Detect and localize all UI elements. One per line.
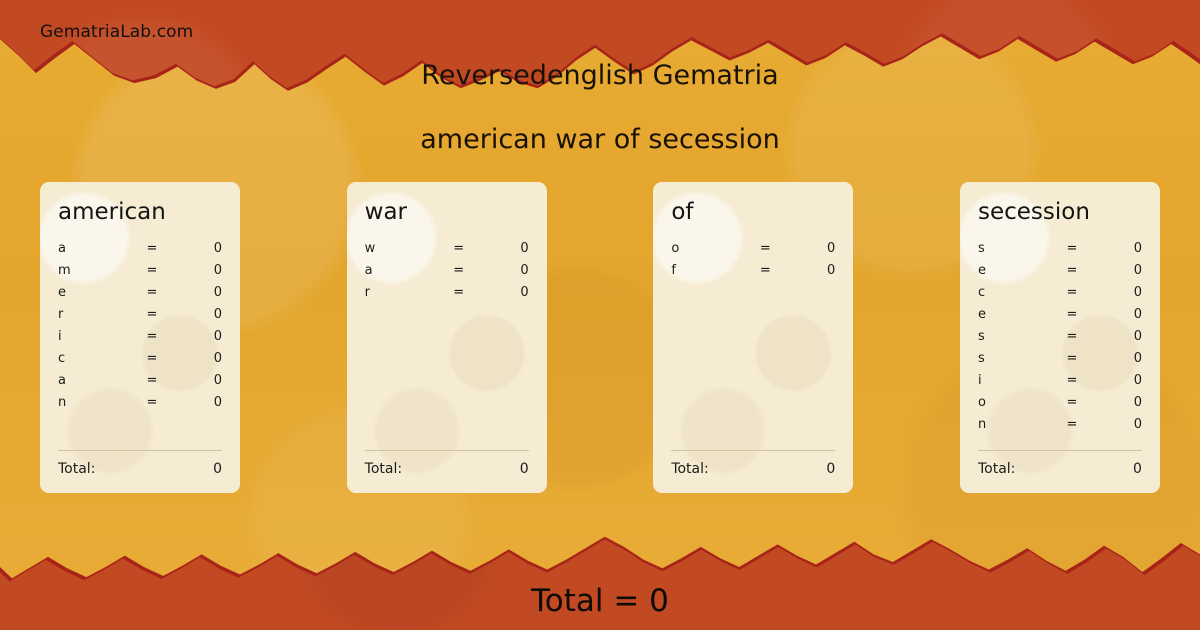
gematria-result-card: GematriaLab.com Reversedenglish Gematria… <box>0 0 1200 630</box>
site-watermark: GematriaLab.com <box>40 22 193 42</box>
row-value: 0 <box>481 263 529 278</box>
row-letter: o <box>978 395 1050 410</box>
letter-value-row: o=0 <box>671 241 835 263</box>
word-card: warw=0a=0r=0Total:0 <box>347 182 547 493</box>
content-layer: GematriaLab.com Reversedenglish Gematria… <box>0 0 1200 630</box>
letter-value-row: s=0 <box>978 351 1142 373</box>
word-card-title: american <box>58 200 222 225</box>
row-value: 0 <box>174 329 222 344</box>
row-equals-sign: = <box>1050 241 1094 256</box>
letter-value-row: a=0 <box>58 373 222 395</box>
letter-value-row: a=0 <box>365 263 529 285</box>
row-equals-sign: = <box>1050 329 1094 344</box>
row-value: 0 <box>1094 329 1142 344</box>
row-letter: s <box>978 351 1050 366</box>
row-value: 0 <box>1094 285 1142 300</box>
row-equals-sign: = <box>1050 373 1094 388</box>
row-value: 0 <box>481 285 529 300</box>
row-letter: o <box>671 241 743 256</box>
row-letter: c <box>58 351 130 366</box>
row-letter: w <box>365 241 437 256</box>
letter-value-row: n=0 <box>978 417 1142 439</box>
letter-value-row: e=0 <box>978 307 1142 329</box>
row-letter: e <box>978 263 1050 278</box>
row-equals-sign: = <box>130 351 174 366</box>
card-total-row: Total:0 <box>365 461 529 477</box>
card-total-label: Total: <box>58 461 213 477</box>
row-letter: a <box>58 373 130 388</box>
row-equals-sign: = <box>437 241 481 256</box>
card-total-label: Total: <box>978 461 1133 477</box>
row-equals-sign: = <box>743 241 787 256</box>
row-value: 0 <box>174 263 222 278</box>
letter-value-row: s=0 <box>978 329 1142 351</box>
row-value: 0 <box>1094 263 1142 278</box>
card-total-value: 0 <box>826 461 835 477</box>
row-value: 0 <box>174 373 222 388</box>
card-divider <box>671 450 835 451</box>
row-value: 0 <box>481 241 529 256</box>
row-letter: e <box>58 285 130 300</box>
letter-value-list: w=0a=0r=0 <box>365 241 529 450</box>
row-letter: s <box>978 241 1050 256</box>
letter-value-row: i=0 <box>58 329 222 351</box>
row-letter: s <box>978 329 1050 344</box>
row-equals-sign: = <box>1050 417 1094 432</box>
row-value: 0 <box>174 307 222 322</box>
row-equals-sign: = <box>130 373 174 388</box>
grand-total: Total = 0 <box>0 583 1200 619</box>
row-equals-sign: = <box>1050 307 1094 322</box>
row-letter: i <box>978 373 1050 388</box>
card-total-label: Total: <box>671 461 826 477</box>
card-total-label: Total: <box>365 461 520 477</box>
letter-value-row: m=0 <box>58 263 222 285</box>
card-total-value: 0 <box>213 461 222 477</box>
card-total-value: 0 <box>520 461 529 477</box>
phrase-subtitle: american war of secession <box>0 124 1200 155</box>
letter-value-row: f=0 <box>671 263 835 285</box>
letter-value-row: s=0 <box>978 241 1142 263</box>
row-value: 0 <box>787 241 835 256</box>
row-letter: r <box>58 307 130 322</box>
letter-value-row: r=0 <box>365 285 529 307</box>
letter-value-list: o=0f=0 <box>671 241 835 450</box>
row-letter: m <box>58 263 130 278</box>
row-letter: n <box>58 395 130 410</box>
row-equals-sign: = <box>130 307 174 322</box>
row-value: 0 <box>1094 417 1142 432</box>
card-total-row: Total:0 <box>671 461 835 477</box>
row-letter: i <box>58 329 130 344</box>
row-equals-sign: = <box>1050 285 1094 300</box>
row-letter: a <box>58 241 130 256</box>
row-equals-sign: = <box>1050 263 1094 278</box>
row-value: 0 <box>174 241 222 256</box>
word-card: secessions=0e=0c=0e=0s=0s=0i=0o=0n=0Tota… <box>960 182 1160 493</box>
word-card-title: of <box>671 200 835 225</box>
card-divider <box>58 450 222 451</box>
row-equals-sign: = <box>743 263 787 278</box>
row-value: 0 <box>174 395 222 410</box>
word-card: ofo=0f=0Total:0 <box>653 182 853 493</box>
row-value: 0 <box>1094 373 1142 388</box>
row-letter: c <box>978 285 1050 300</box>
letter-value-row: a=0 <box>58 241 222 263</box>
letter-value-row: w=0 <box>365 241 529 263</box>
letter-value-row: e=0 <box>978 263 1142 285</box>
row-equals-sign: = <box>130 241 174 256</box>
row-equals-sign: = <box>130 263 174 278</box>
word-card-title: secession <box>978 200 1142 225</box>
letter-value-row: n=0 <box>58 395 222 417</box>
letter-value-row: e=0 <box>58 285 222 307</box>
card-total-value: 0 <box>1133 461 1142 477</box>
card-divider <box>365 450 529 451</box>
row-letter: e <box>978 307 1050 322</box>
letter-value-row: o=0 <box>978 395 1142 417</box>
card-divider <box>978 450 1142 451</box>
row-value: 0 <box>787 263 835 278</box>
row-value: 0 <box>174 285 222 300</box>
row-value: 0 <box>174 351 222 366</box>
row-value: 0 <box>1094 307 1142 322</box>
letter-value-row: c=0 <box>978 285 1142 307</box>
page-title: Reversedenglish Gematria <box>0 60 1200 91</box>
row-value: 0 <box>1094 395 1142 410</box>
word-card: americana=0m=0e=0r=0i=0c=0a=0n=0Total:0 <box>40 182 240 493</box>
card-total-row: Total:0 <box>58 461 222 477</box>
row-equals-sign: = <box>1050 351 1094 366</box>
row-value: 0 <box>1094 351 1142 366</box>
letter-value-row: c=0 <box>58 351 222 373</box>
row-letter: r <box>365 285 437 300</box>
row-equals-sign: = <box>130 395 174 410</box>
word-cards-row: americana=0m=0e=0r=0i=0c=0a=0n=0Total:0w… <box>40 182 1160 493</box>
row-letter: f <box>671 263 743 278</box>
row-equals-sign: = <box>437 285 481 300</box>
letter-value-list: a=0m=0e=0r=0i=0c=0a=0n=0 <box>58 241 222 450</box>
row-equals-sign: = <box>130 285 174 300</box>
word-card-title: war <box>365 200 529 225</box>
row-letter: n <box>978 417 1050 432</box>
letter-value-row: r=0 <box>58 307 222 329</box>
row-equals-sign: = <box>1050 395 1094 410</box>
card-total-row: Total:0 <box>978 461 1142 477</box>
row-equals-sign: = <box>130 329 174 344</box>
row-value: 0 <box>1094 241 1142 256</box>
row-equals-sign: = <box>437 263 481 278</box>
letter-value-row: i=0 <box>978 373 1142 395</box>
letter-value-list: s=0e=0c=0e=0s=0s=0i=0o=0n=0 <box>978 241 1142 450</box>
row-letter: a <box>365 263 437 278</box>
